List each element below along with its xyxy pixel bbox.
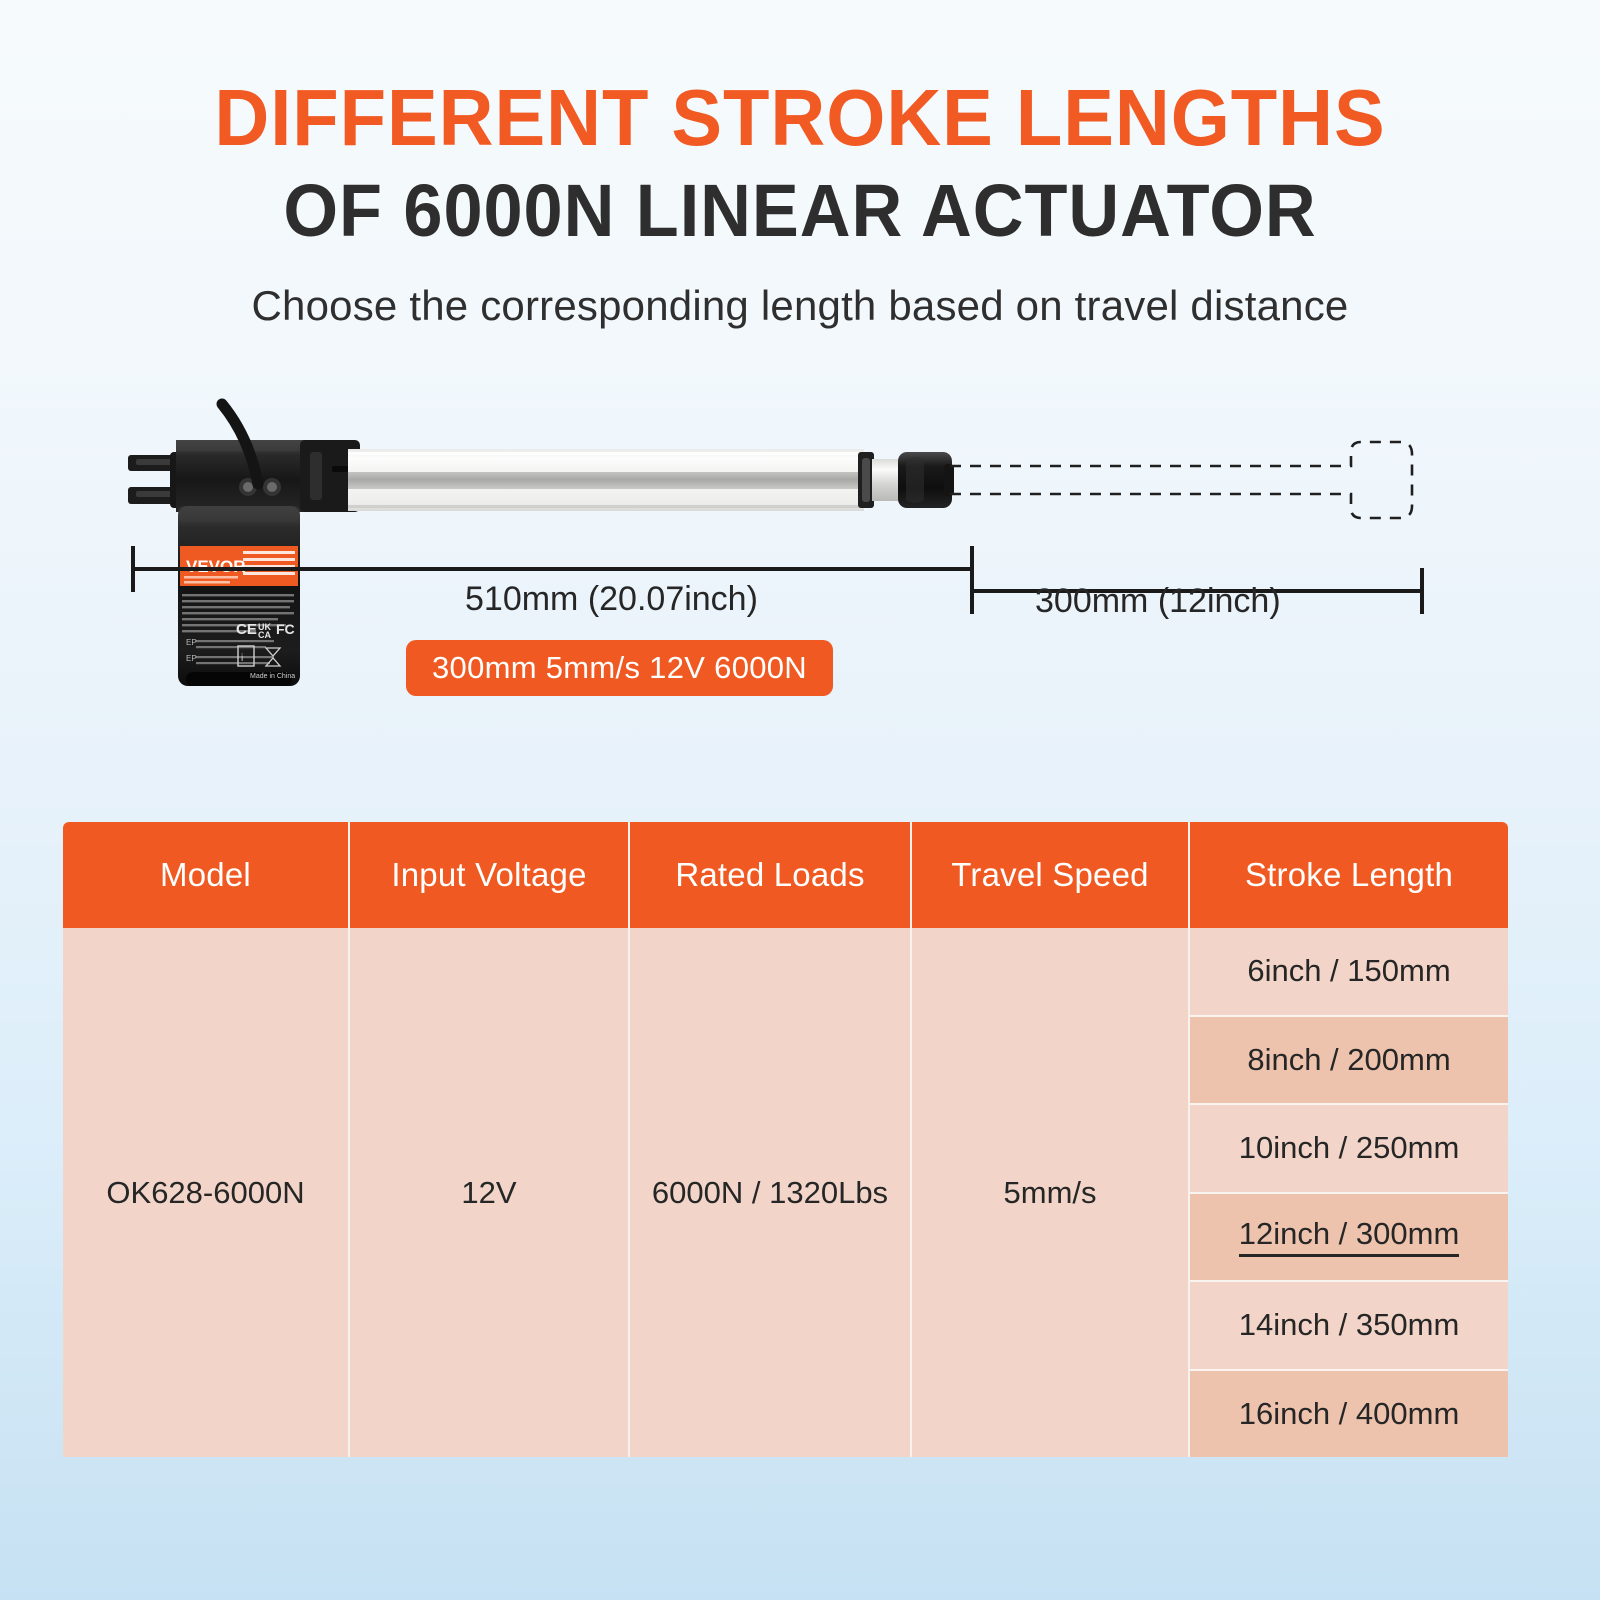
actuator-tube [348, 449, 864, 511]
svg-text:CE: CE [236, 621, 257, 638]
stroke-option[interactable]: 14inch / 350mm [1190, 1282, 1508, 1371]
cell-rated-loads: 6000N / 1320Lbs [630, 928, 912, 1457]
svg-text:UK: UK [258, 622, 271, 632]
spec-badge: 300mm 5mm/s 12V 6000N [406, 640, 833, 696]
svg-text:EP: EP [186, 638, 197, 647]
cell-input-voltage: 12V [350, 928, 630, 1457]
front-end-cap [898, 452, 954, 508]
table-body: OK628-6000N 12V 6000N / 1320Lbs 5mm/s 6i… [63, 928, 1508, 1457]
stroke-option-label: 16inch / 400mm [1239, 1396, 1460, 1432]
column-header-stroke-length: Stroke Length [1190, 822, 1508, 928]
stroke-option-label: 8inch / 200mm [1247, 1042, 1450, 1078]
stroke-option-selected[interactable]: 12inch / 300mm [1190, 1194, 1508, 1283]
svg-text:VEVOR: VEVOR [186, 557, 246, 576]
spec-table: Model Input Voltage Rated Loads Travel S… [63, 822, 1508, 1457]
stroke-length-options: 6inch / 150mm 8inch / 200mm 10inch / 250… [1190, 928, 1508, 1457]
motor-barrel: VEVOR EP EP CE UK CA FC i Made [178, 506, 300, 686]
power-cable [222, 404, 258, 484]
page-title-primary: DIFFERENT STROKE LENGTHS [40, 78, 1560, 158]
cell-model: OK628-6000N [63, 928, 350, 1457]
svg-text:Made in China: Made in China [250, 673, 295, 680]
column-header-input-voltage: Input Voltage [350, 822, 630, 928]
stroke-option-label: 12inch / 300mm [1239, 1216, 1460, 1257]
stroke-option[interactable]: 10inch / 250mm [1190, 1105, 1508, 1194]
page-title-secondary: OF 6000N LINEAR ACTUATOR [40, 174, 1560, 248]
stroke-option-label: 14inch / 350mm [1239, 1307, 1460, 1343]
cell-travel-speed: 5mm/s [912, 928, 1190, 1457]
actuator-rod [872, 459, 934, 501]
stroke-option-label: 6inch / 150mm [1247, 953, 1450, 989]
gearbox-housing [176, 440, 360, 512]
svg-text:FC: FC [276, 621, 295, 637]
stroke-option-label: 10inch / 250mm [1239, 1130, 1460, 1166]
extended-stroke-outline [950, 442, 1412, 518]
table-header-row: Model Input Voltage Rated Loads Travel S… [63, 822, 1508, 928]
stroke-option[interactable]: 8inch / 200mm [1190, 1017, 1508, 1106]
heading-block: DIFFERENT STROKE LENGTHS OF 6000N LINEAR… [0, 78, 1600, 330]
column-header-model: Model [63, 822, 350, 928]
rear-mount-bracket [128, 452, 196, 508]
stroke-option[interactable]: 16inch / 400mm [1190, 1371, 1508, 1458]
dimension-label-stroke: 300mm (12inch) [1035, 582, 1281, 621]
svg-text:i: i [241, 653, 243, 664]
column-header-travel-speed: Travel Speed [912, 822, 1190, 928]
column-header-rated-loads: Rated Loads [630, 822, 912, 928]
svg-text:CA: CA [258, 630, 271, 640]
page-subtitle: Choose the corresponding length based on… [0, 282, 1600, 330]
stroke-option[interactable]: 6inch / 150mm [1190, 928, 1508, 1017]
svg-text:EP: EP [186, 654, 197, 663]
dimension-label-retracted: 510mm (20.07inch) [465, 580, 758, 619]
tube-end-collar [858, 452, 874, 508]
